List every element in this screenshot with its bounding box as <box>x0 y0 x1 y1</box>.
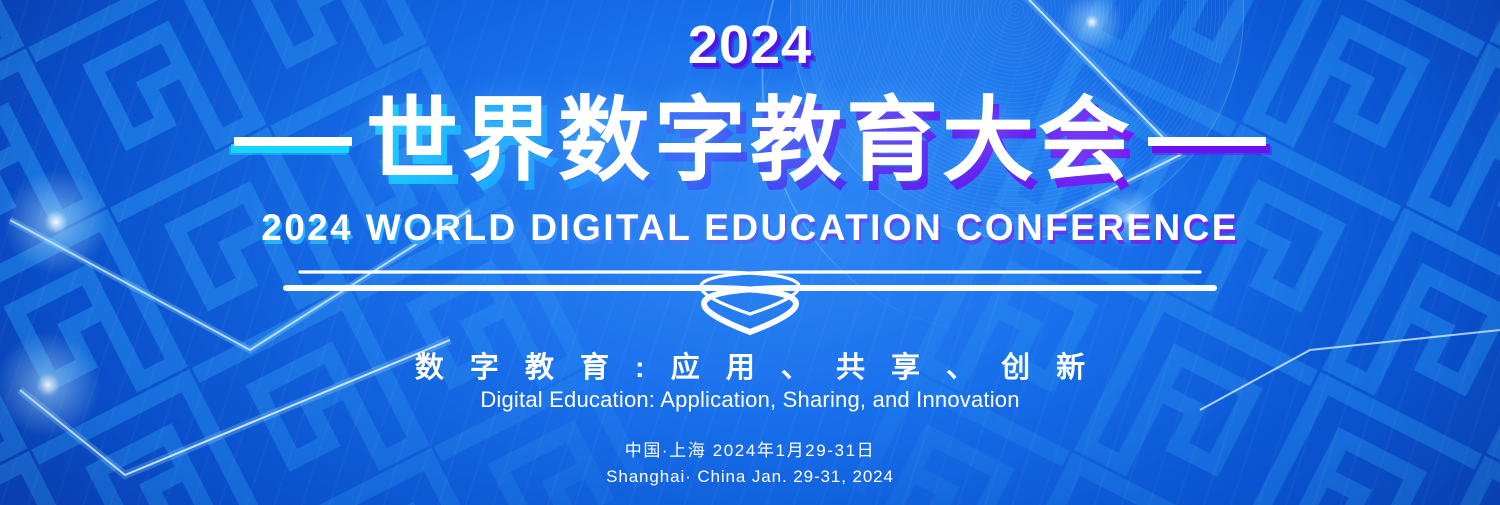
dash-left-decor <box>234 137 352 146</box>
conference-banner: 2024 世界数字教育大会 世界数字教育大会 2024 WORLD DIGITA… <box>0 0 1500 505</box>
open-book-divider <box>278 258 1222 320</box>
main-title-en-text: 2024 WORLD DIGITAL EDUCATION CONFERENCE <box>261 207 1239 248</box>
location-date-cn: 中国·上海 2024年1月29-31日 <box>0 440 1500 463</box>
year-headline: 2024 <box>0 18 1500 72</box>
banner-content: 2024 世界数字教育大会 世界数字教育大会 2024 WORLD DIGITA… <box>0 0 1500 505</box>
main-title-cn-text: 世界数字教育大会 <box>366 90 1134 192</box>
main-title-row: 世界数字教育大会 世界数字教育大会 <box>0 82 1500 200</box>
main-title-en: 2024 WORLD DIGITAL EDUCATION CONFERENCE … <box>0 209 1500 246</box>
dash-right-decor <box>1148 137 1266 146</box>
theme-en: Digital Education: Application, Sharing,… <box>0 386 1500 414</box>
theme-cn: 数 字 教 育 : 应 用 、 共 享 、 创 新 <box>0 350 1500 386</box>
main-title-cn: 世界数字教育大会 世界数字教育大会 <box>366 95 1134 187</box>
location-date-en: Shanghai· China Jan. 29-31, 2024 <box>0 466 1500 489</box>
